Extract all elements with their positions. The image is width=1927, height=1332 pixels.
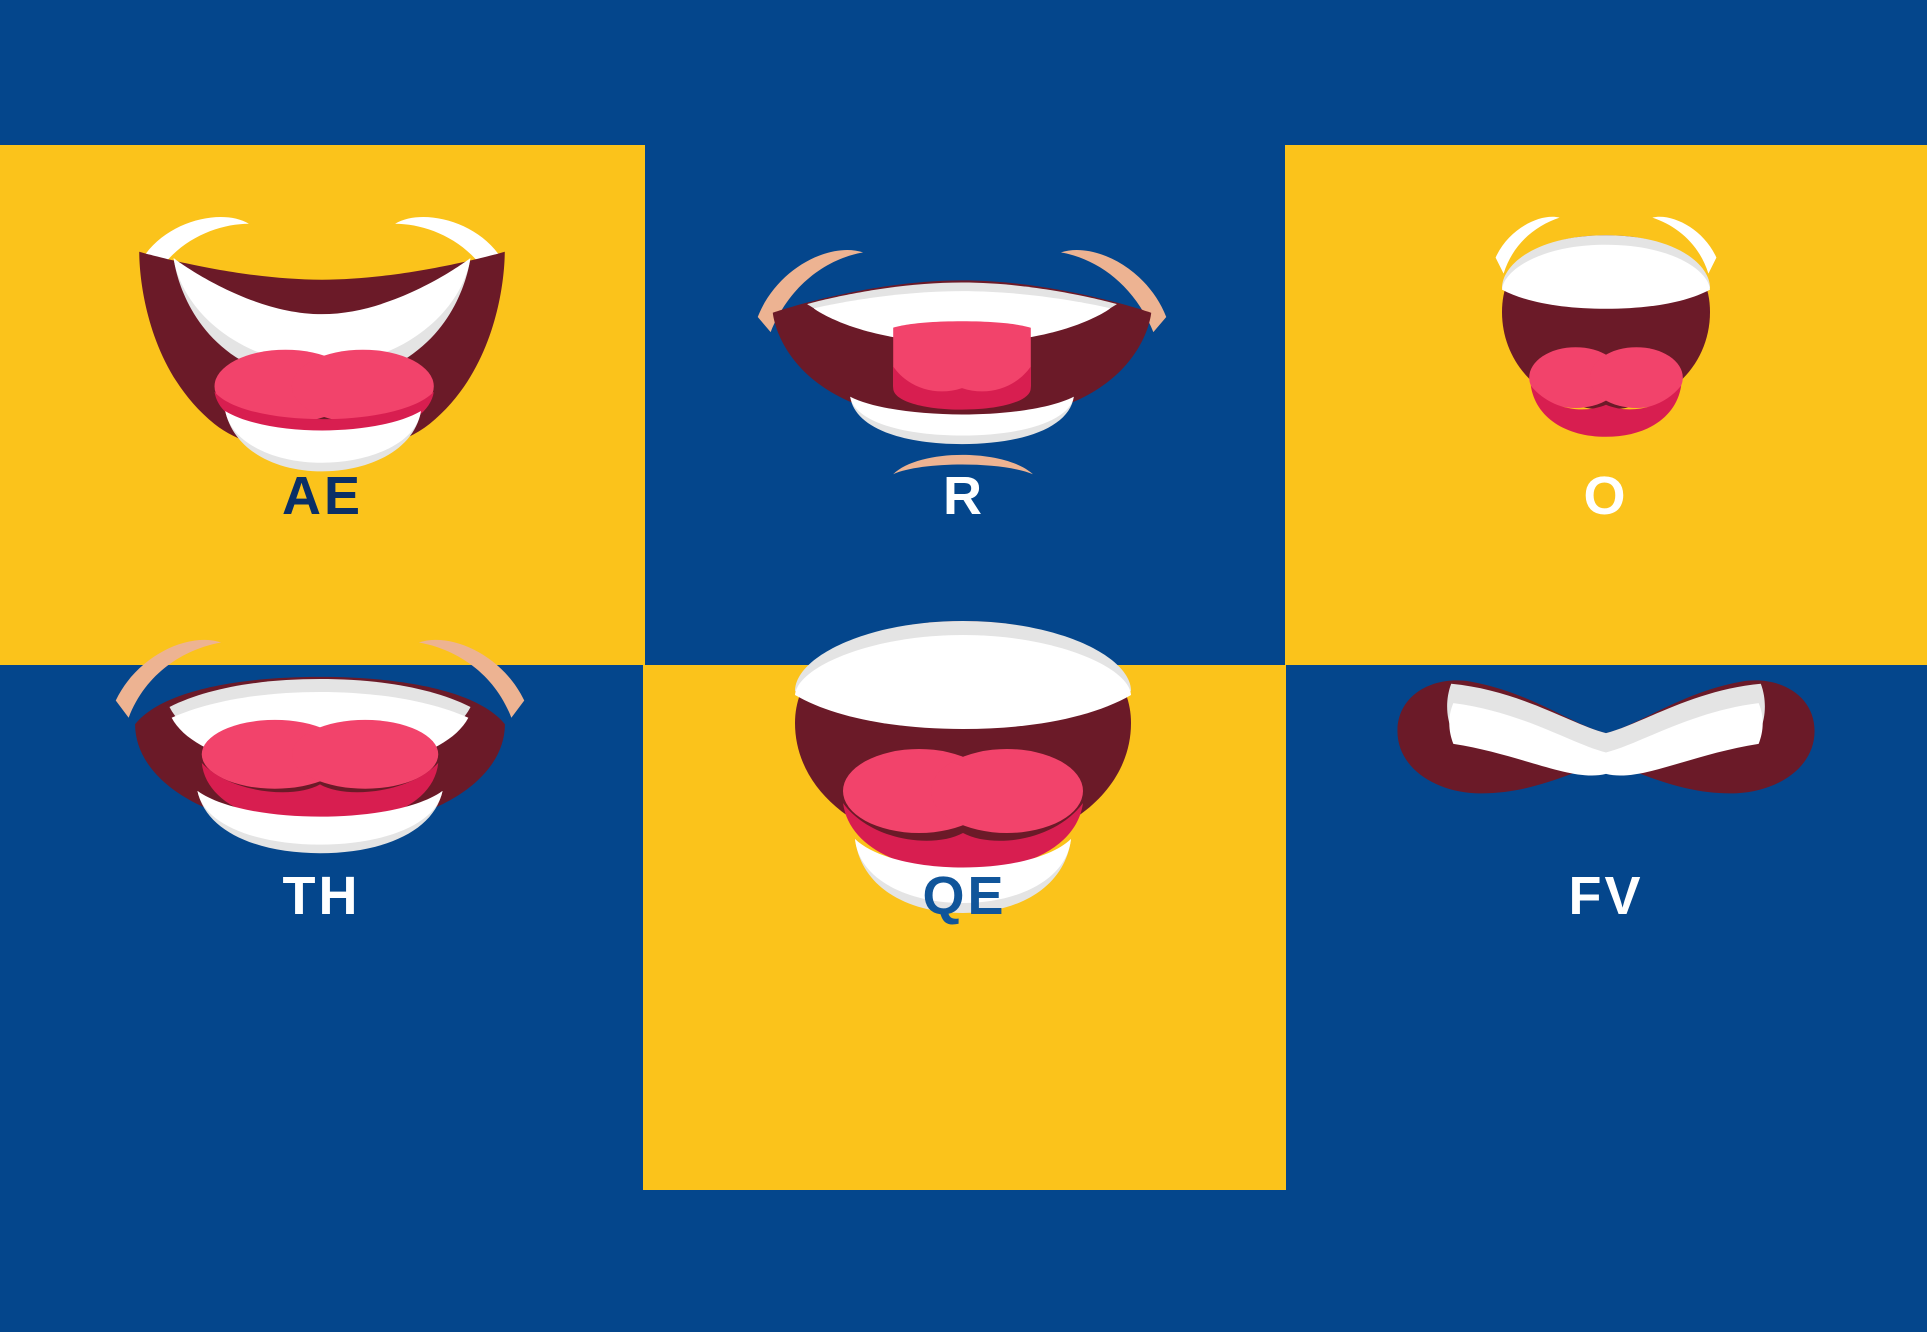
phoneme-label-fv: FV: [1285, 865, 1927, 927]
mouth-illustration-ae: [107, 200, 537, 480]
tongue-right-lobe: [931, 749, 1083, 833]
mouth-illustration-r: [747, 205, 1177, 485]
phoneme-label-ae: AE: [0, 465, 645, 527]
phoneme-mouth-chart: AEROTHQEFV: [0, 0, 1927, 1332]
phoneme-label-r: R: [643, 465, 1285, 527]
phoneme-cell-ae[interactable]: AE: [0, 145, 645, 665]
mouth-illustration-fv: [1391, 658, 1821, 819]
phoneme-label-th: TH: [0, 865, 643, 927]
mouth-illustration-o: [1446, 200, 1766, 440]
phoneme-cell-r[interactable]: R: [643, 145, 1285, 665]
phoneme-label-qe: QE: [643, 865, 1286, 927]
phoneme-cell-qe[interactable]: QE: [643, 665, 1286, 1190]
phoneme-label-o: O: [1285, 465, 1927, 527]
phoneme-cell-o[interactable]: O: [1285, 145, 1927, 665]
phoneme-cell-fv[interactable]: FV: [1285, 665, 1927, 1190]
mouth-illustration-th: [105, 621, 535, 879]
phoneme-cell-th[interactable]: TH: [0, 665, 643, 1190]
tongue-right-lobe: [292, 720, 438, 789]
